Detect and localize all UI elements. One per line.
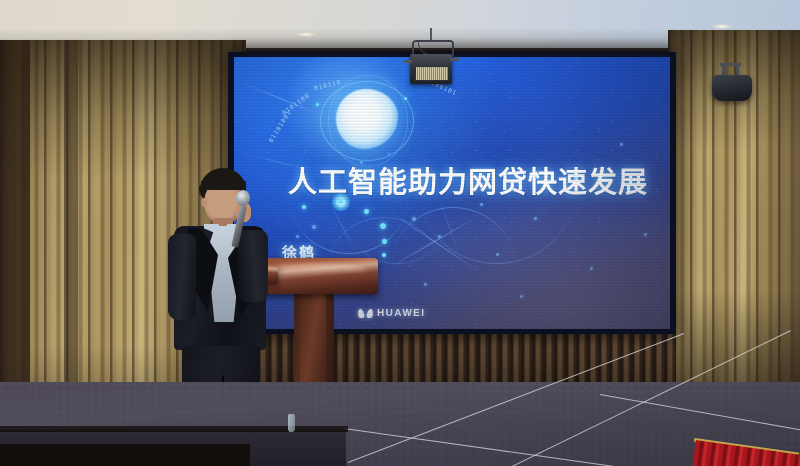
ceiling-speaker [708,63,756,105]
presenter-arm-right [238,230,268,302]
microphone-head [236,190,250,206]
light-side-arm [450,58,459,61]
speaker-body [712,75,752,101]
presenter-arm-left [168,234,196,320]
recessed-downlight [295,32,317,37]
wall-base-shadow [0,444,250,466]
speaker-bracket [720,63,741,66]
water-bottle [288,414,295,432]
presenter-ear [201,198,207,207]
recessed-downlight [712,24,732,29]
light-side-arm [404,60,412,63]
light-lens [415,66,449,81]
stage-edge-shadow [0,426,348,432]
curtain-top-shadow [0,40,246,180]
stage-light-fixture [404,28,460,86]
conference-presentation-photo: 01101001 0101100 010110 100101 人工智能助力网贷快… [0,0,800,466]
